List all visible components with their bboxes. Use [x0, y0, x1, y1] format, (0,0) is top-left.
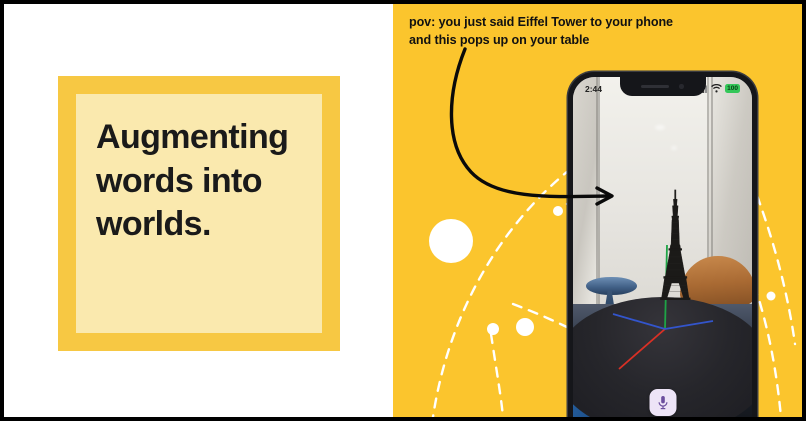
status-time: 2:44 [585, 84, 602, 94]
ar-camera-view [573, 77, 752, 417]
large-white-circle [429, 219, 473, 263]
battery-icon: 100 [725, 84, 740, 92]
caption-text: pov: you just said Eiffel Tower to your … [409, 14, 677, 50]
title-card-inner: Augmenting words into worlds. [76, 94, 322, 333]
small-white-circle-2 [516, 318, 534, 336]
wifi-icon [711, 84, 722, 93]
microphone-icon [657, 395, 668, 410]
small-white-circle-3 [553, 206, 563, 216]
earpiece-speaker [641, 85, 669, 89]
mic-button[interactable] [649, 389, 676, 416]
slide-canvas: Augmenting words into worlds. [0, 0, 806, 421]
title-card: Augmenting words into worlds. [58, 76, 340, 351]
phone-notch [620, 77, 706, 96]
small-white-circle-4 [767, 292, 776, 301]
left-panel: Augmenting words into worlds. [4, 4, 393, 417]
phone-screen[interactable]: 2:44 100 [573, 77, 752, 417]
eiffel-tower-3d-model [652, 146, 699, 346]
right-panel: pov: you just said Eiffel Tower to your … [393, 4, 802, 417]
small-white-circle-1 [487, 323, 499, 335]
front-camera-icon [679, 84, 684, 89]
orbit-arc-4 [491, 334, 503, 417]
smartphone-mockup: 2:44 100 [568, 72, 757, 417]
page-title: Augmenting words into worlds. [96, 116, 302, 247]
